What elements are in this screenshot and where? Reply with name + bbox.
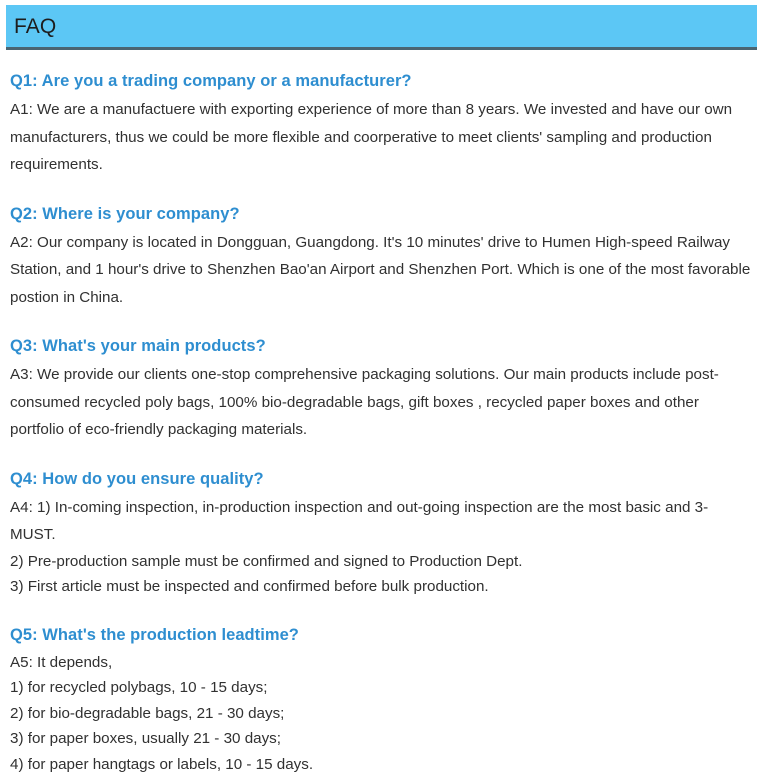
faq-answer-1: A1: We are a manufactuere with exporting… [10, 96, 752, 179]
faq-question-4: Q4: How do you ensure quality? [10, 466, 752, 492]
faq-question-1: Q1: Are you a trading company or a manuf… [10, 68, 752, 94]
faq-header-title: FAQ [6, 16, 56, 37]
faq-answer-5-line-2: 1) for recycled polybags, 10 - 15 days; [10, 675, 752, 701]
faq-answer-5-list: A5: It depends, 1) for recycled polybags… [10, 650, 752, 777]
faq-answer-4-line-3: 3) First article must be inspected and c… [10, 574, 752, 600]
faq-content: Q1: Are you a trading company or a manuf… [10, 68, 752, 777]
faq-answer-5-line-5: 4) for paper hangtags or labels, 10 - 15… [10, 752, 752, 777]
faq-page: FAQ Q1: Are you a trading company or a m… [0, 0, 765, 748]
faq-item-4: Q4: How do you ensure quality? A4: 1) In… [10, 466, 752, 600]
faq-question-5: Q5: What's the production leadtime? [10, 622, 752, 648]
faq-item-2: Q2: Where is your company? A2: Our compa… [10, 201, 752, 312]
faq-item-1: Q1: Are you a trading company or a manuf… [10, 68, 752, 179]
faq-answer-5-line-3: 2) for bio-degradable bags, 21 - 30 days… [10, 701, 752, 727]
faq-question-2: Q2: Where is your company? [10, 201, 752, 227]
faq-answer-4-line-1: A4: 1) In-coming inspection, in-producti… [10, 499, 708, 544]
faq-answer-2: A2: Our company is located in Dongguan, … [10, 229, 752, 312]
faq-answer-5-line-1: A5: It depends, [10, 650, 752, 676]
faq-answer-4-line-2: 2) Pre-production sample must be confirm… [10, 549, 752, 575]
faq-header-banner: FAQ [6, 5, 757, 50]
faq-question-3: Q3: What's your main products? [10, 333, 752, 359]
faq-item-5: Q5: What's the production leadtime? A5: … [10, 622, 752, 777]
faq-answer-3: A3: We provide our clients one-stop comp… [10, 361, 752, 444]
faq-item-3: Q3: What's your main products? A3: We pr… [10, 333, 752, 444]
faq-answer-4-list: 2) Pre-production sample must be confirm… [10, 549, 752, 600]
faq-answer-4: A4: 1) In-coming inspection, in-producti… [10, 494, 752, 549]
